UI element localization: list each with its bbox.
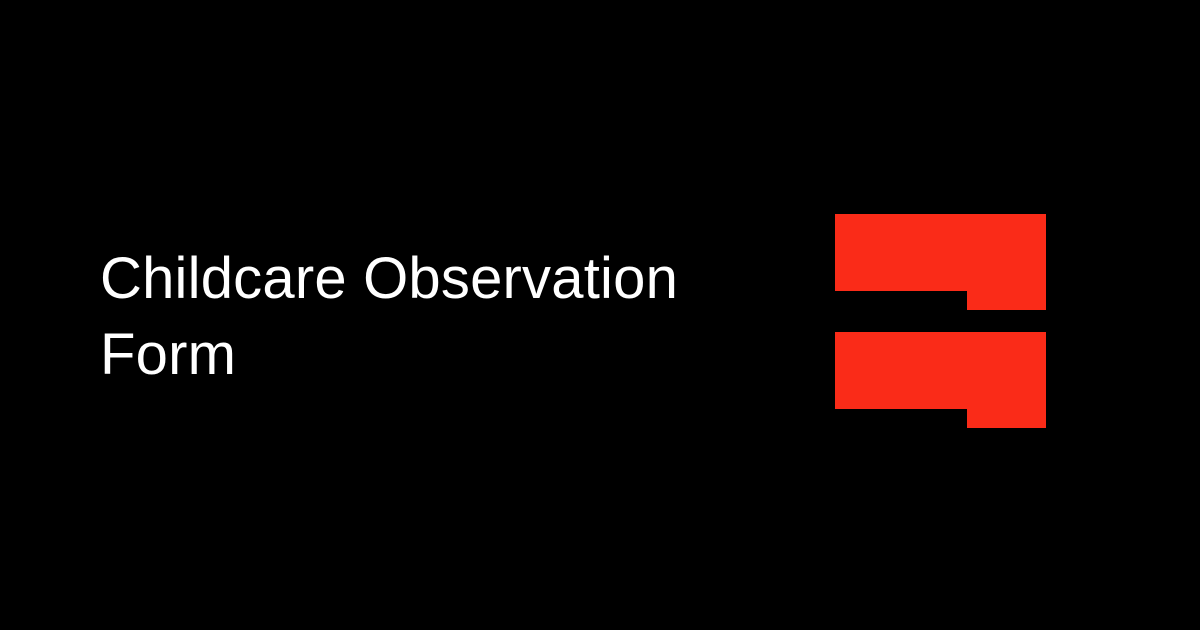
og-card: Childcare Observation Form (0, 0, 1200, 630)
page-title: Childcare Observation Form (100, 241, 780, 393)
logo-bar-bottom-icon (835, 332, 1046, 428)
brand-logo (835, 214, 1046, 428)
logo-bar-top-icon (835, 214, 1046, 310)
title-block: Childcare Observation Form (100, 241, 780, 393)
